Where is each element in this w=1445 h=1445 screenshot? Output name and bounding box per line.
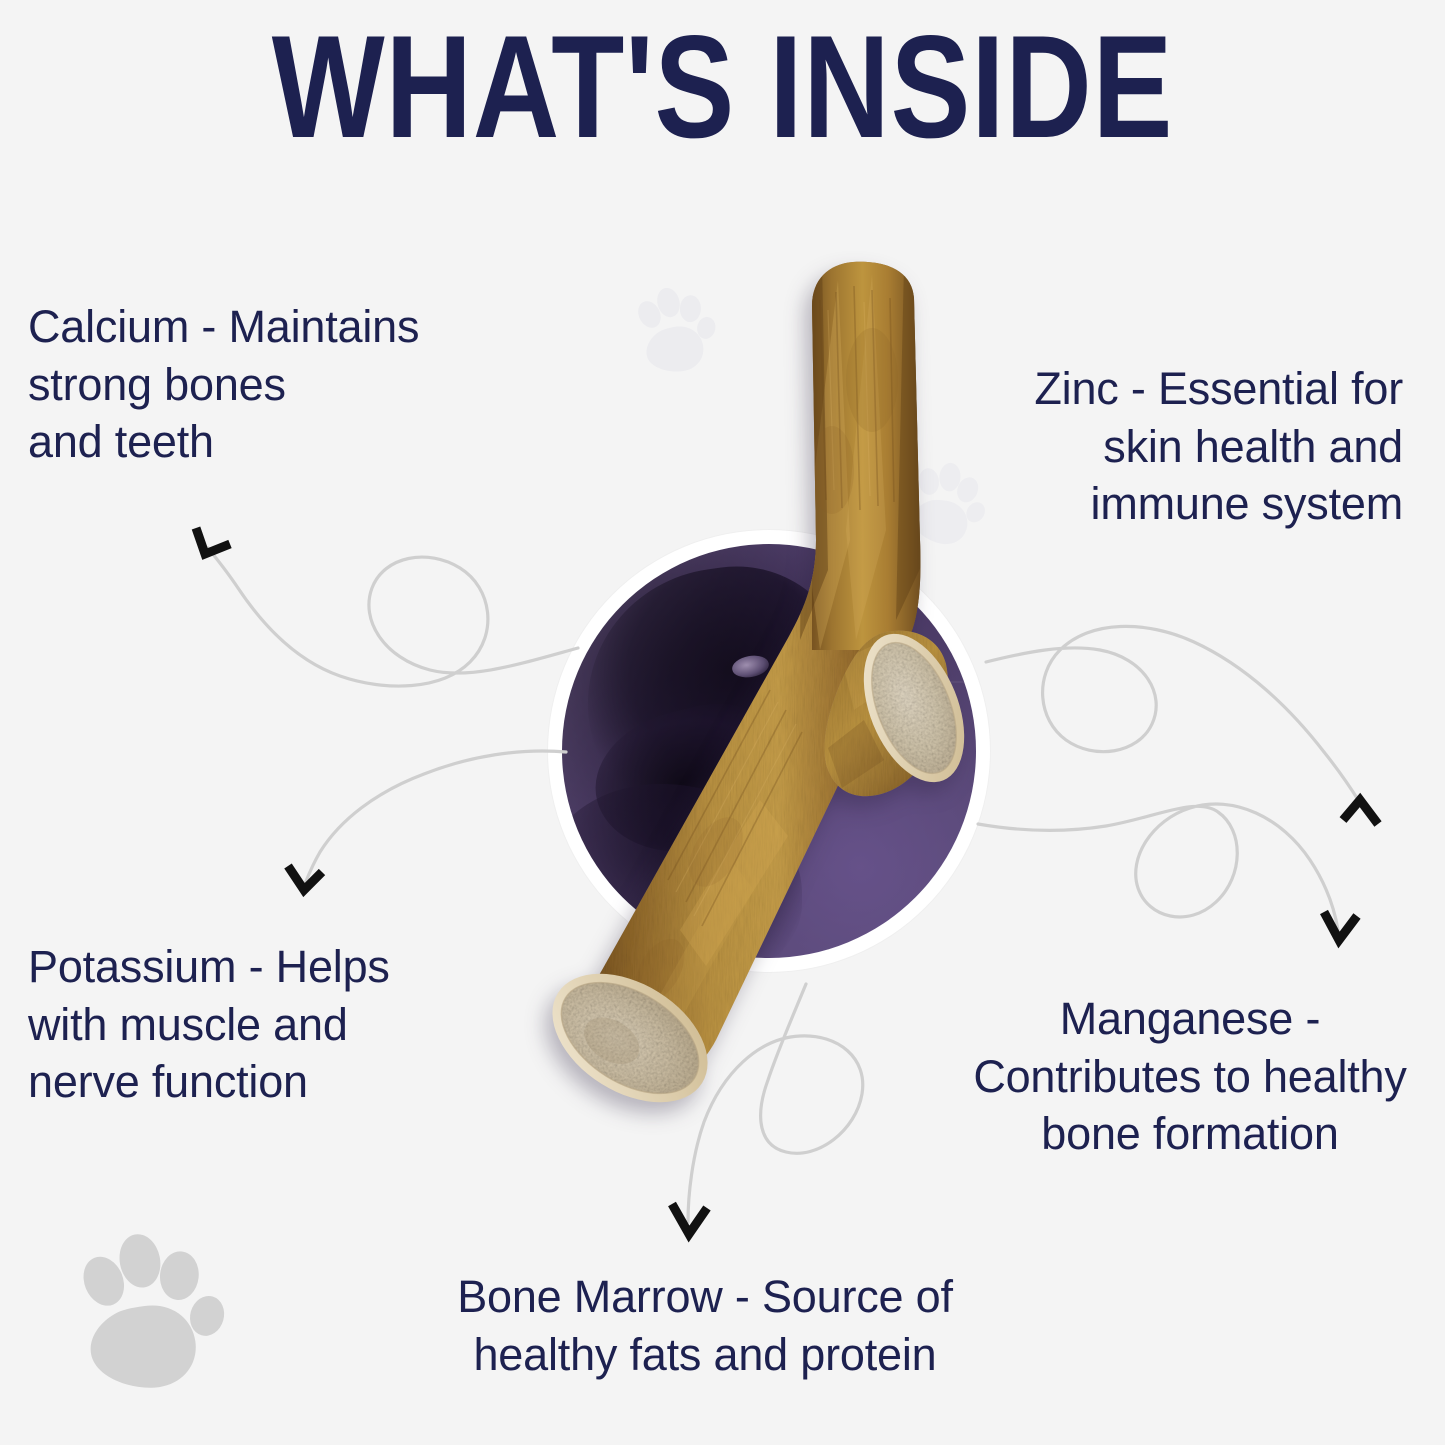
callout-zinc: Zinc - Essential for skin health and imm…	[883, 360, 1403, 533]
infographic-canvas: WHAT'S INSIDE	[0, 0, 1445, 1445]
callout-calcium: Calcium - Maintains strong bones and tee…	[28, 298, 588, 471]
arrow-zinc	[986, 626, 1378, 824]
paw-print-icon	[51, 1221, 241, 1411]
callout-manganese: Manganese - Contributes to healthy bone …	[955, 990, 1425, 1163]
arrow-manganese	[978, 804, 1357, 940]
callout-potassium: Potassium - Helps with muscle and nerve …	[28, 938, 548, 1111]
callout-bone-marrow: Bone Marrow - Source of healthy fats and…	[370, 1268, 1040, 1383]
page-title: WHAT'S INSIDE	[130, 14, 1315, 160]
